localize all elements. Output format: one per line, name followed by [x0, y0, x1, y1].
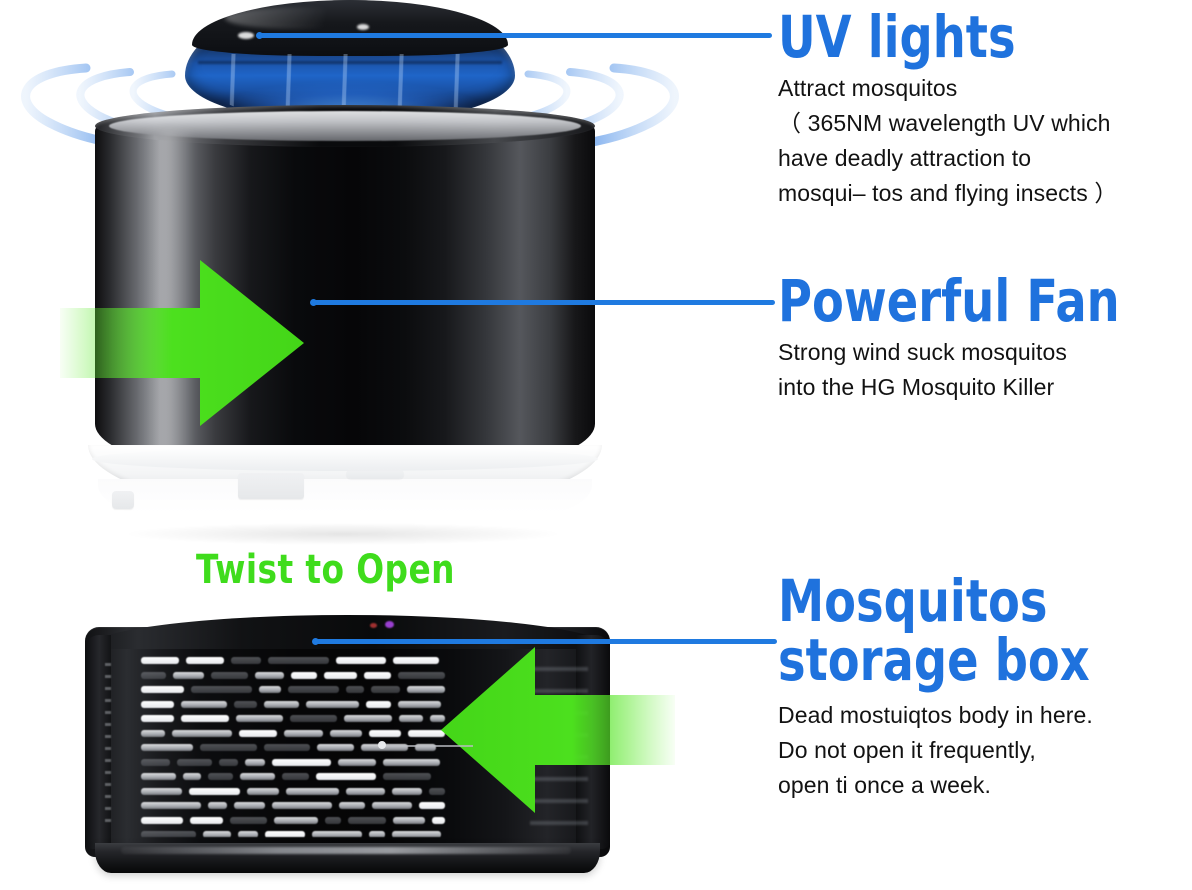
grille-dash: [141, 730, 165, 737]
grille-dash: [211, 672, 248, 679]
uv-light-dome: [185, 0, 515, 122]
grille-dash: [291, 672, 317, 679]
callout-line: into the HG Mosquito Killer: [778, 370, 1192, 405]
grille-dash: [240, 773, 275, 780]
grille-dash: [383, 759, 440, 766]
grille-dash: [141, 802, 201, 809]
airflow-arrow-bottom: [440, 645, 675, 815]
grille-dash: [264, 701, 299, 708]
callout-line: Attract mosquitos: [778, 71, 1192, 106]
grille-dash: [234, 701, 257, 708]
grille-row: [141, 657, 449, 665]
callout-heading-storage-box-line1: Mosquitos: [778, 572, 1109, 631]
callout-line: Dead mostuiqtos body in here.: [778, 698, 1192, 733]
grille-dash: [238, 831, 258, 837]
collar-groove: [346, 469, 404, 479]
grille-dash: [393, 657, 439, 664]
grille-dash: [181, 701, 227, 708]
grille-row: [141, 686, 449, 694]
grille-dash: [348, 817, 386, 824]
callout-body-powerful-fan: Strong wind suck mosquitos into the HG M…: [778, 335, 1192, 405]
grille-row: [141, 759, 449, 767]
callout-column: UV lights Attract mosquitos （ 365NM wave…: [778, 0, 1192, 890]
grille-dash: [141, 686, 184, 693]
grille-row: [141, 831, 449, 837]
grille-dash: [316, 773, 376, 780]
leader-dot-uv-lights: [256, 32, 263, 39]
grille-dash: [141, 657, 179, 664]
grille-dash: [398, 672, 445, 679]
grille-dash: [172, 730, 232, 737]
grille-dash: [288, 686, 339, 693]
storage-box-side-vents: [105, 663, 111, 823]
grille-dash: [208, 773, 233, 780]
grille-dash: [245, 759, 265, 766]
grille-dash: [219, 759, 238, 766]
white-twist-collar: [88, 445, 602, 541]
grille-dash: [392, 788, 422, 795]
grille-dash: [284, 730, 323, 737]
callout-body-storage-box: Dead mostuiqtos body in here. Do not ope…: [778, 698, 1192, 803]
grille-row: [141, 701, 449, 709]
product-illustration: Twist to Open: [0, 0, 780, 890]
grille-dash: [383, 773, 431, 780]
grille-dash: [312, 831, 362, 837]
grille-dash: [230, 817, 267, 824]
grille-row: [141, 715, 449, 723]
grille-pointer-dot: [378, 741, 386, 749]
leader-line-powerful-fan: [313, 300, 775, 305]
callout-line: have deadly attraction to: [778, 141, 1192, 176]
grille-dash: [181, 715, 229, 722]
callout-line: Do not open it frequently,: [778, 733, 1192, 768]
callout-heading-uv-lights: UV lights: [778, 8, 1109, 67]
grille-dash: [372, 802, 412, 809]
collar-notch: [112, 491, 134, 509]
grille-dash: [432, 817, 445, 824]
grille-dash: [264, 744, 310, 751]
grille-dash: [141, 831, 196, 837]
grille-dash: [364, 672, 391, 679]
grille-dash: [259, 686, 281, 693]
grille-dash: [234, 802, 265, 809]
grille-dash: [274, 817, 318, 824]
grille-dash: [369, 730, 401, 737]
grille-dash: [173, 672, 204, 679]
grille-dash: [141, 672, 166, 679]
callout-heading-storage-box-line2: storage box: [778, 631, 1109, 690]
callout-uv-lights: UV lights Attract mosquitos （ 365NM wave…: [778, 8, 1192, 211]
grille-row: [141, 672, 449, 680]
grille-dash: [141, 715, 174, 722]
grille-dash: [141, 744, 193, 751]
grille-dash: [330, 730, 362, 737]
grille-dash: [247, 788, 279, 795]
grille-dash: [239, 730, 277, 737]
collar-lip: [92, 447, 598, 471]
grille-dash: [346, 788, 385, 795]
grille-dash: [268, 657, 329, 664]
grille-dash: [346, 686, 364, 693]
grille-dash: [369, 831, 385, 837]
leader-dot-storage-box: [312, 638, 319, 645]
grille-dash: [191, 686, 252, 693]
grille-dash: [189, 788, 240, 795]
grille-dash: [141, 701, 174, 708]
grille-dash: [141, 788, 182, 795]
callout-heading-powerful-fan: Powerful Fan: [778, 272, 1109, 331]
airflow-arrow-top: [60, 258, 305, 428]
grille-pointer-line: [383, 745, 473, 747]
grille-row: [141, 773, 449, 781]
grille-dash: [393, 817, 425, 824]
twist-to-open-label: Twist to Open: [196, 550, 455, 590]
grille-dash: [325, 817, 341, 824]
grille-dash: [399, 715, 423, 722]
uv-dome-top-shell: [192, 0, 509, 56]
leader-line-storage-box: [315, 639, 777, 644]
grille-dash: [366, 701, 391, 708]
leader-line-uv-lights: [258, 33, 772, 38]
grille-dash: [190, 817, 223, 824]
callout-line: Strong wind suck mosquitos: [778, 335, 1192, 370]
infographic-canvas: Twist to Open: [0, 0, 1192, 890]
grille-dash: [272, 802, 332, 809]
grille-dash: [231, 657, 261, 664]
leader-dot-powerful-fan: [310, 299, 317, 306]
grille-dash: [290, 715, 337, 722]
grille-dash: [141, 817, 183, 824]
callout-body-uv-lights: Attract mosquitos （ 365NM wavelength UV …: [778, 71, 1192, 211]
storage-box-grille: [141, 657, 449, 837]
grille-dash: [398, 701, 441, 708]
grille-row: [141, 730, 449, 738]
grille-dash: [141, 773, 176, 780]
grille-dash: [203, 831, 231, 837]
grille-dash: [339, 802, 365, 809]
grille-row: [141, 817, 449, 825]
storage-box-red-speck: [370, 623, 377, 628]
grille-dash: [272, 759, 331, 766]
storage-box-base-highlight: [121, 847, 571, 854]
grille-dash: [183, 773, 201, 780]
grille-dash: [336, 657, 386, 664]
grille-dash: [306, 701, 359, 708]
grille-dash: [392, 831, 441, 837]
storage-box-purple-speck: [385, 621, 394, 628]
grille-dash: [255, 672, 284, 679]
grille-dash: [317, 744, 354, 751]
collar-drop-shadow: [128, 523, 558, 545]
uv-specular-highlight: [238, 32, 254, 39]
grille-dash: [177, 759, 212, 766]
callout-storage-box: Mosquitos storage box Dead mostuiqtos bo…: [778, 572, 1192, 803]
grille-dash: [286, 788, 339, 795]
collar-tab: [238, 473, 304, 499]
callout-powerful-fan: Powerful Fan Strong wind suck mosquitos …: [778, 272, 1192, 405]
grille-dash: [324, 672, 357, 679]
callout-line: open ti once a week.: [778, 768, 1192, 803]
callout-line: mosqui– tos and flying insects ）: [778, 176, 1192, 211]
grille-dash: [141, 759, 170, 766]
grille-dash: [186, 657, 224, 664]
grille-dash: [200, 744, 257, 751]
grille-dash: [338, 759, 376, 766]
grille-row: [141, 802, 449, 810]
grille-row: [141, 788, 449, 796]
grille-dash: [344, 715, 392, 722]
grille-dash: [371, 686, 400, 693]
grille-dash: [282, 773, 309, 780]
grille-dash: [265, 831, 305, 837]
grille-dash: [208, 802, 227, 809]
callout-line: （ 365NM wavelength UV which: [778, 106, 1192, 141]
grille-dash: [236, 715, 283, 722]
